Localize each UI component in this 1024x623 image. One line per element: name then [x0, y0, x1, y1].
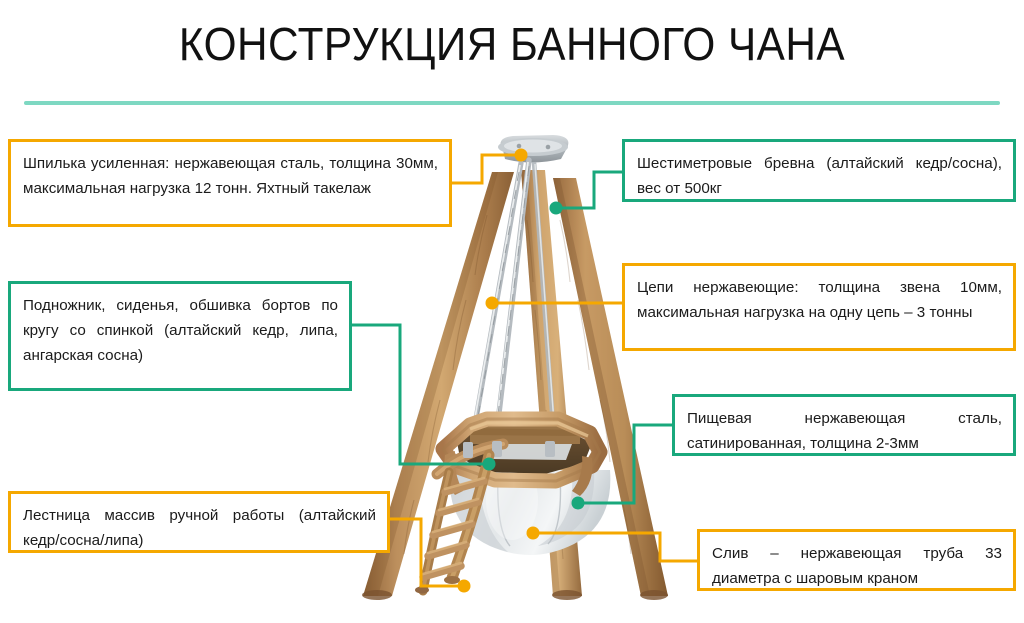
connector-logs [559, 172, 622, 208]
callout-steel-text: Пищевая нержавеющая сталь, сатинированна… [687, 406, 1002, 456]
callout-steel[interactable]: Пищевая нержавеющая сталь, сатинированна… [672, 394, 1016, 456]
callout-ladder[interactable]: Лестница массив ручной работы (алтайский… [8, 491, 390, 553]
callout-ladder-text: Лестница массив ручной работы (алтайский… [23, 503, 376, 553]
callout-seating-text: Подножник, сиденья, обшивка бортов по кр… [23, 293, 338, 368]
callout-seating[interactable]: Подножник, сиденья, обшивка бортов по кр… [8, 281, 352, 391]
connector-dot-ladder [458, 580, 471, 593]
callout-chains[interactable]: Цепи нержавеющие: толщина звена 10мм, ма… [622, 263, 1016, 351]
connector-dot-logs [550, 202, 563, 215]
connector-stud [452, 155, 519, 183]
callout-logs[interactable]: Шестиметровые бревна (алтайский кедр/сос… [622, 139, 1016, 202]
connector-dot-stud [515, 149, 528, 162]
callout-logs-text: Шестиметровые бревна (алтайский кедр/сос… [637, 151, 1002, 201]
connector-dot-chains [486, 297, 499, 310]
connector-seating [352, 325, 486, 464]
connector-steel [581, 425, 672, 503]
connector-dot-drain [527, 527, 540, 540]
callout-drain-text: Слив – нержавеющая труба 33 диаметра с ш… [712, 541, 1002, 591]
connector-drain [536, 533, 697, 561]
connector-dot-steel [572, 497, 585, 510]
connector-dot-seating [483, 458, 496, 471]
callout-stud-text: Шпилька усиленная: нержавеющая сталь, то… [23, 151, 438, 201]
callout-chains-text: Цепи нержавеющие: толщина звена 10мм, ма… [637, 275, 1002, 325]
callout-drain[interactable]: Слив – нержавеющая труба 33 диаметра с ш… [697, 529, 1016, 591]
callout-stud[interactable]: Шпилька усиленная: нержавеющая сталь, то… [8, 139, 452, 227]
infographic-canvas: КОНСТРУКЦИЯ БАННОГО ЧАНА [0, 0, 1024, 623]
connector-ladder [390, 519, 461, 586]
